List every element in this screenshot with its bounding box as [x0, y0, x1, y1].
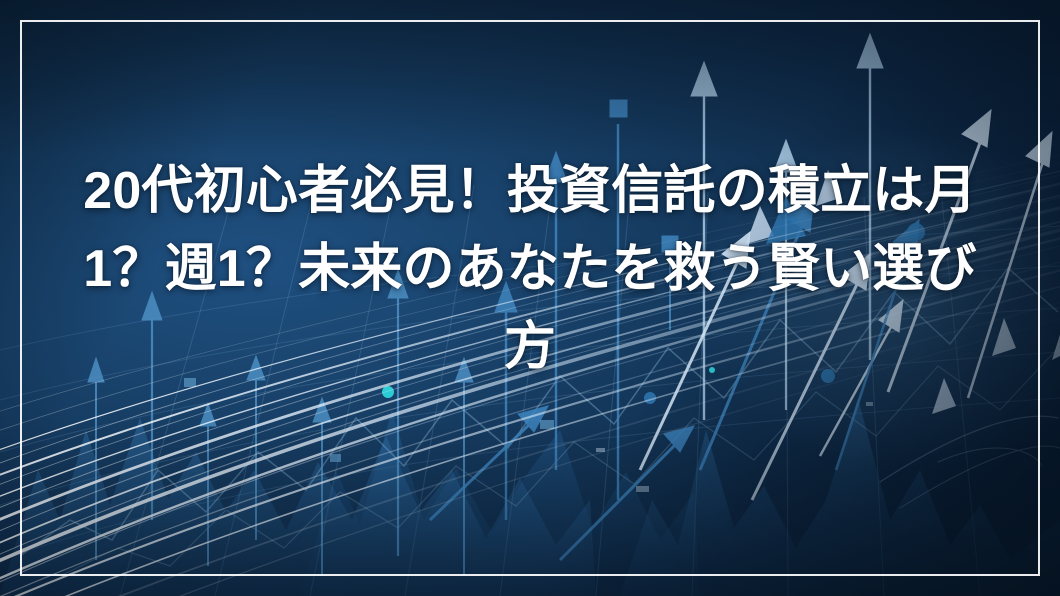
- page-title: 20代初心者必見！投資信託の積立は月 1？週1？未来のあなたを救う賢い選び 方: [62, 152, 998, 386]
- title-line-3: 方: [62, 308, 998, 386]
- title-line-1: 20代初心者必見！投資信託の積立は月: [62, 152, 998, 230]
- title-line-2: 1？週1？未来のあなたを救う賢い選び: [62, 230, 998, 308]
- eyecatch-card: 20代初心者必見！投資信託の積立は月 1？週1？未来のあなたを救う賢い選び 方: [0, 0, 1060, 596]
